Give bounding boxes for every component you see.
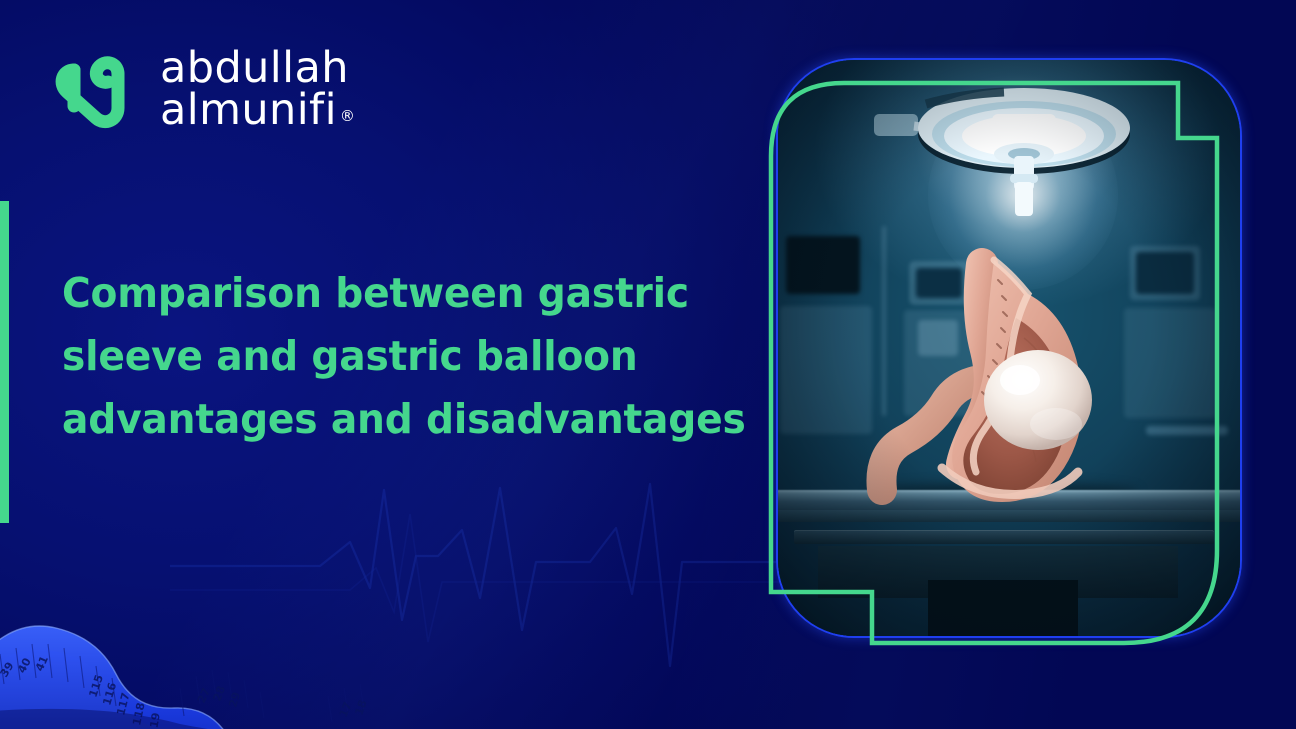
svg-text:119: 119 <box>146 712 163 729</box>
measuring-tape-icon: 39 40 41 115 116 117 118 119 27 28 29 17… <box>0 592 420 729</box>
operating-table-rail <box>794 530 1214 544</box>
title-line-3: advantages and disadvantages <box>62 388 731 451</box>
svg-text:29: 29 <box>226 691 243 709</box>
stomach-cutaway-icon <box>866 240 1166 508</box>
svg-text:116: 116 <box>100 681 119 707</box>
svg-text:27: 27 <box>195 686 213 705</box>
cart-left <box>780 306 872 434</box>
svg-text:18: 18 <box>352 698 369 717</box>
stomach-monogram-icon <box>48 44 140 132</box>
page-title: Comparison between gastric sleeve and ga… <box>62 262 762 451</box>
svg-text:28: 28 <box>211 684 228 703</box>
brand-name-line2: almunifi <box>160 89 337 131</box>
svg-text:39: 39 <box>0 660 17 680</box>
hero-photo <box>778 60 1240 636</box>
brand-name-line1: abdullah <box>160 47 355 89</box>
hero-image-frame <box>768 58 1242 646</box>
svg-text:115: 115 <box>86 673 105 699</box>
left-accent-bar <box>0 201 9 523</box>
operating-table-edge <box>778 510 1240 522</box>
monitor-left <box>786 236 860 294</box>
title-line-2: sleeve and gastric balloon <box>62 325 731 388</box>
heartbeat-line-icon <box>170 470 870 720</box>
svg-text:118: 118 <box>130 701 147 726</box>
svg-text:117: 117 <box>114 691 132 716</box>
svg-text:41: 41 <box>33 654 51 673</box>
svg-text:17: 17 <box>337 700 355 719</box>
operating-table-column <box>928 580 1078 636</box>
registered-mark: ® <box>340 109 355 124</box>
surgical-lamp-icon <box>874 78 1154 228</box>
svg-text:40: 40 <box>15 655 34 675</box>
slide-canvas: abdullah almunifi ® Comparison between g… <box>0 0 1296 729</box>
title-line-1: Comparison between gastric <box>62 262 731 325</box>
brand-wordmark: abdullah almunifi ® <box>160 47 355 131</box>
brand-logo[interactable]: abdullah almunifi ® <box>48 44 355 132</box>
